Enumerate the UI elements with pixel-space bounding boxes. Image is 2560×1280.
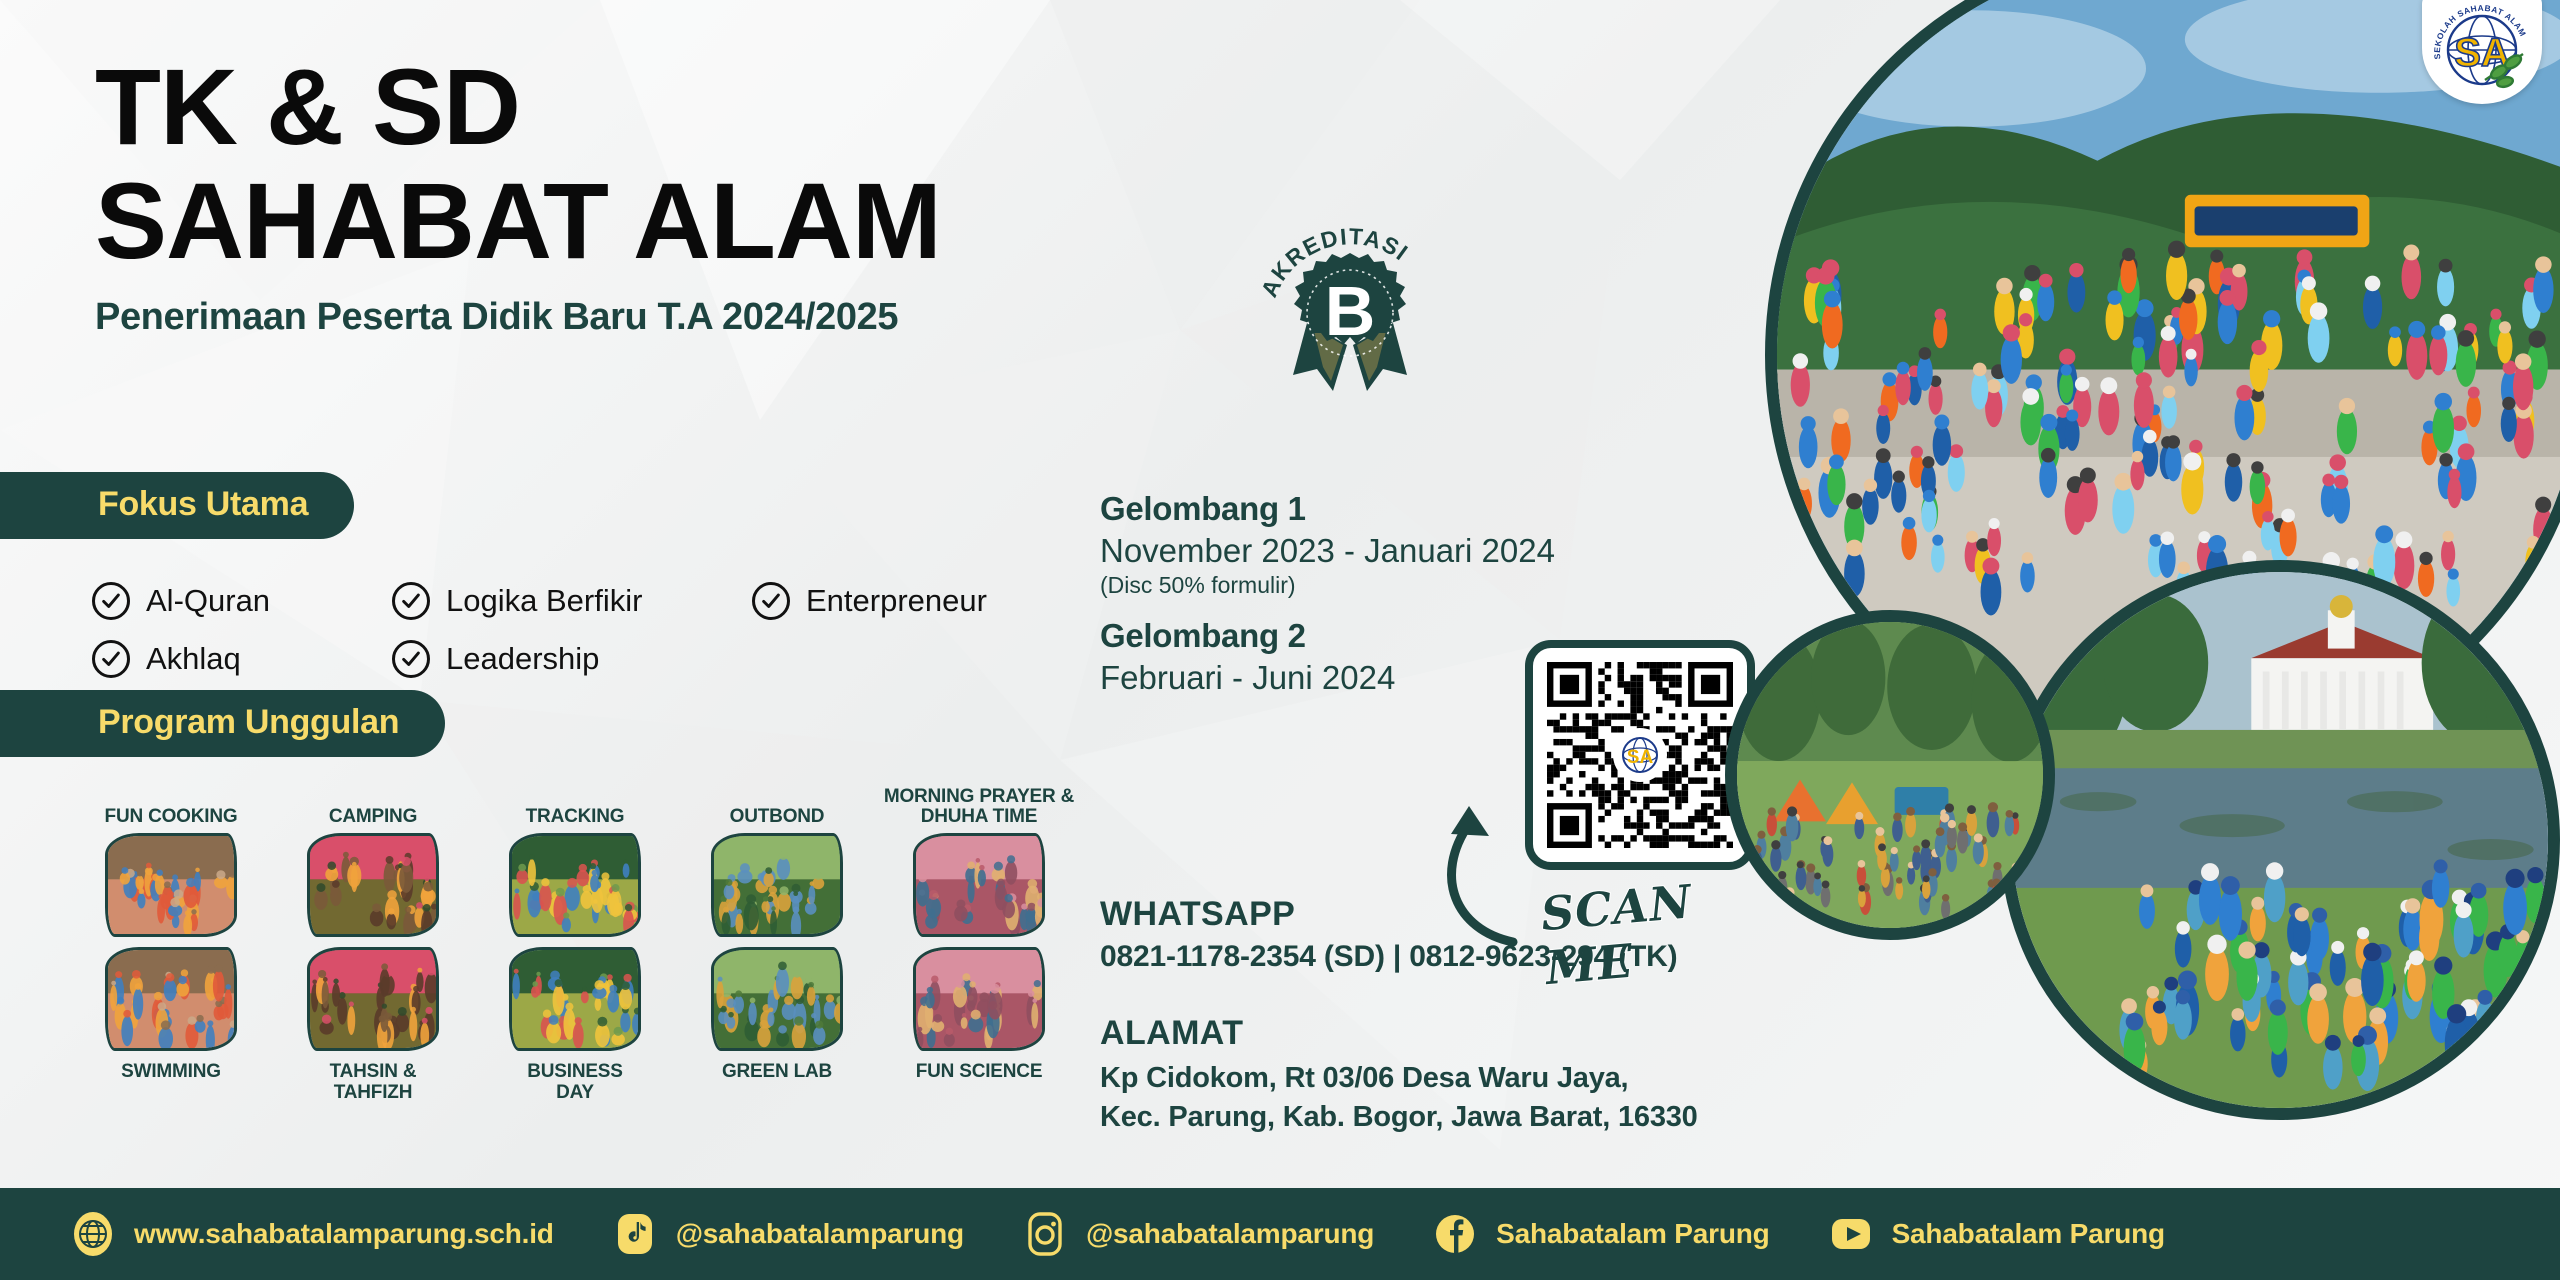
footer-item-website[interactable]: www.sahabatalamparung.sch.id — [70, 1211, 554, 1257]
program-label: FUN COOKING — [105, 782, 238, 828]
program-photo — [307, 833, 439, 937]
wave-note: (Disc 50% formulir) — [1100, 572, 1780, 599]
check-icon — [92, 582, 130, 620]
accreditation-rosette-icon: AKREDITASI B — [1255, 195, 1445, 395]
tiktok-icon — [612, 1211, 658, 1257]
program-label: BUSINESSDAY — [527, 1056, 623, 1104]
program-cell: FUN SCIENCE — [878, 942, 1080, 1104]
focus-item-leadership: Leadership — [392, 630, 642, 688]
footer-label: www.sahabatalamparung.sch.id — [134, 1218, 554, 1250]
wave-1: Gelombang 1 November 2023 - Januari 2024… — [1100, 490, 1780, 599]
footer-item-tiktok[interactable]: @sahabatalamparung — [612, 1211, 964, 1257]
program-photo — [711, 833, 843, 937]
program-cell: CAMPING — [272, 782, 474, 942]
focus-item-label: Leadership — [446, 641, 599, 677]
program-label: SWIMMING — [121, 1056, 221, 1104]
program-label: OUTBOND — [730, 782, 825, 828]
wave-dates: November 2023 - Januari 2024 — [1100, 532, 1780, 570]
program-cell: SWIMMING — [70, 942, 272, 1104]
footer-item-instagram[interactable]: @sahabatalamparung — [1022, 1211, 1374, 1257]
photo-collage: SEKOLAH SAHABAT ALAM SA — [1680, 0, 2560, 1190]
footer-label: Sahabatalam Parung — [1892, 1218, 2165, 1250]
page-title-line1: TK & SD — [95, 52, 941, 162]
facebook-icon — [1432, 1211, 1478, 1257]
program-cell: TRACKING — [474, 782, 676, 942]
school-logo-icon: SEKOLAH SAHABAT ALAM SA — [2427, 0, 2537, 100]
program-label: MORNING PRAYER &DHUHA TIME — [884, 782, 1074, 828]
footer-item-youtube[interactable]: Sahabatalam Parung — [1828, 1211, 2165, 1257]
programs-pill: Program Unggulan — [0, 690, 445, 757]
photo-group-field-trip — [2000, 560, 2560, 1120]
check-icon — [752, 582, 790, 620]
wave-title: Gelombang 1 — [1100, 490, 1780, 528]
qr-center-logo: SA — [1613, 728, 1667, 782]
focus-item-logika-berfikir: Logika Berfikir — [392, 572, 642, 630]
program-cell: GREEN LAB — [676, 942, 878, 1104]
program-label: GREEN LAB — [722, 1056, 832, 1104]
svg-text:B: B — [1325, 272, 1376, 350]
accreditation-badge: AKREDITASI B — [1255, 195, 1445, 395]
program-photo — [307, 947, 439, 1051]
check-icon — [92, 640, 130, 678]
title-block: TK & SD SAHABAT ALAM Penerimaan Peserta … — [95, 52, 941, 339]
school-logo-icon: SA — [1613, 728, 1667, 782]
youtube-icon — [1828, 1211, 1874, 1257]
program-photo — [711, 947, 843, 1051]
focus-item-al-quran: Al-Quran — [92, 572, 270, 630]
photo-group-camp — [1725, 610, 2055, 940]
footer-social-bar: www.sahabatalamparung.sch.id @sahabatala… — [0, 1188, 2560, 1280]
footer-label: @sahabatalamparung — [676, 1218, 964, 1250]
program-label: TRACKING — [526, 782, 625, 828]
programs-row-bottom: SWIMMINGTAHSIN &TAHFIZHBUSINESSDAYGREEN … — [70, 942, 1080, 1104]
program-cell: TAHSIN &TAHFIZH — [272, 942, 474, 1104]
focus-item-label: Akhlaq — [146, 641, 241, 677]
focus-item-label: Logika Berfikir — [446, 583, 642, 619]
school-logo-badge: SEKOLAH SAHABAT ALAM SA — [2422, 0, 2542, 104]
footer-label: Sahabatalam Parung — [1496, 1218, 1769, 1250]
program-photo — [509, 947, 641, 1051]
program-cell: OUTBOND — [676, 782, 878, 942]
check-icon — [392, 640, 430, 678]
program-label: CAMPING — [329, 782, 417, 828]
focus-item-label: Al-Quran — [146, 583, 270, 619]
program-cell: FUN COOKING — [70, 782, 272, 942]
programs-grid: FUN COOKINGCAMPINGTRACKINGOUTBONDMORNING… — [70, 782, 1080, 1104]
programs-row-top: FUN COOKINGCAMPINGTRACKINGOUTBONDMORNING… — [70, 782, 1080, 942]
focus-item-akhlaq: Akhlaq — [92, 630, 270, 688]
page-subtitle: Penerimaan Peserta Didik Baru T.A 2024/2… — [95, 296, 941, 339]
instagram-icon — [1022, 1211, 1068, 1257]
program-label: TAHSIN &TAHFIZH — [330, 1056, 417, 1104]
check-icon — [392, 582, 430, 620]
svg-text:SA: SA — [1627, 747, 1654, 768]
globe-icon — [70, 1211, 116, 1257]
focus-item-enterpreneur: Enterpreneur — [752, 572, 987, 630]
focus-item-label: Enterpreneur — [806, 583, 987, 619]
program-photo — [105, 947, 237, 1051]
program-cell: MORNING PRAYER &DHUHA TIME — [878, 782, 1080, 942]
program-photo — [105, 833, 237, 937]
program-label: FUN SCIENCE — [916, 1056, 1043, 1104]
program-photo — [913, 833, 1045, 937]
program-photo — [913, 947, 1045, 1051]
footer-item-facebook[interactable]: Sahabatalam Parung — [1432, 1211, 1769, 1257]
program-cell: BUSINESSDAY — [474, 942, 676, 1104]
focus-pill-label: Fokus Utama — [0, 472, 354, 539]
page-title-line2: SAHABAT ALAM — [95, 166, 941, 276]
footer-label: @sahabatalamparung — [1086, 1218, 1374, 1250]
focus-pill: Fokus Utama — [0, 472, 354, 539]
program-photo — [509, 833, 641, 937]
programs-pill-label: Program Unggulan — [0, 690, 445, 757]
